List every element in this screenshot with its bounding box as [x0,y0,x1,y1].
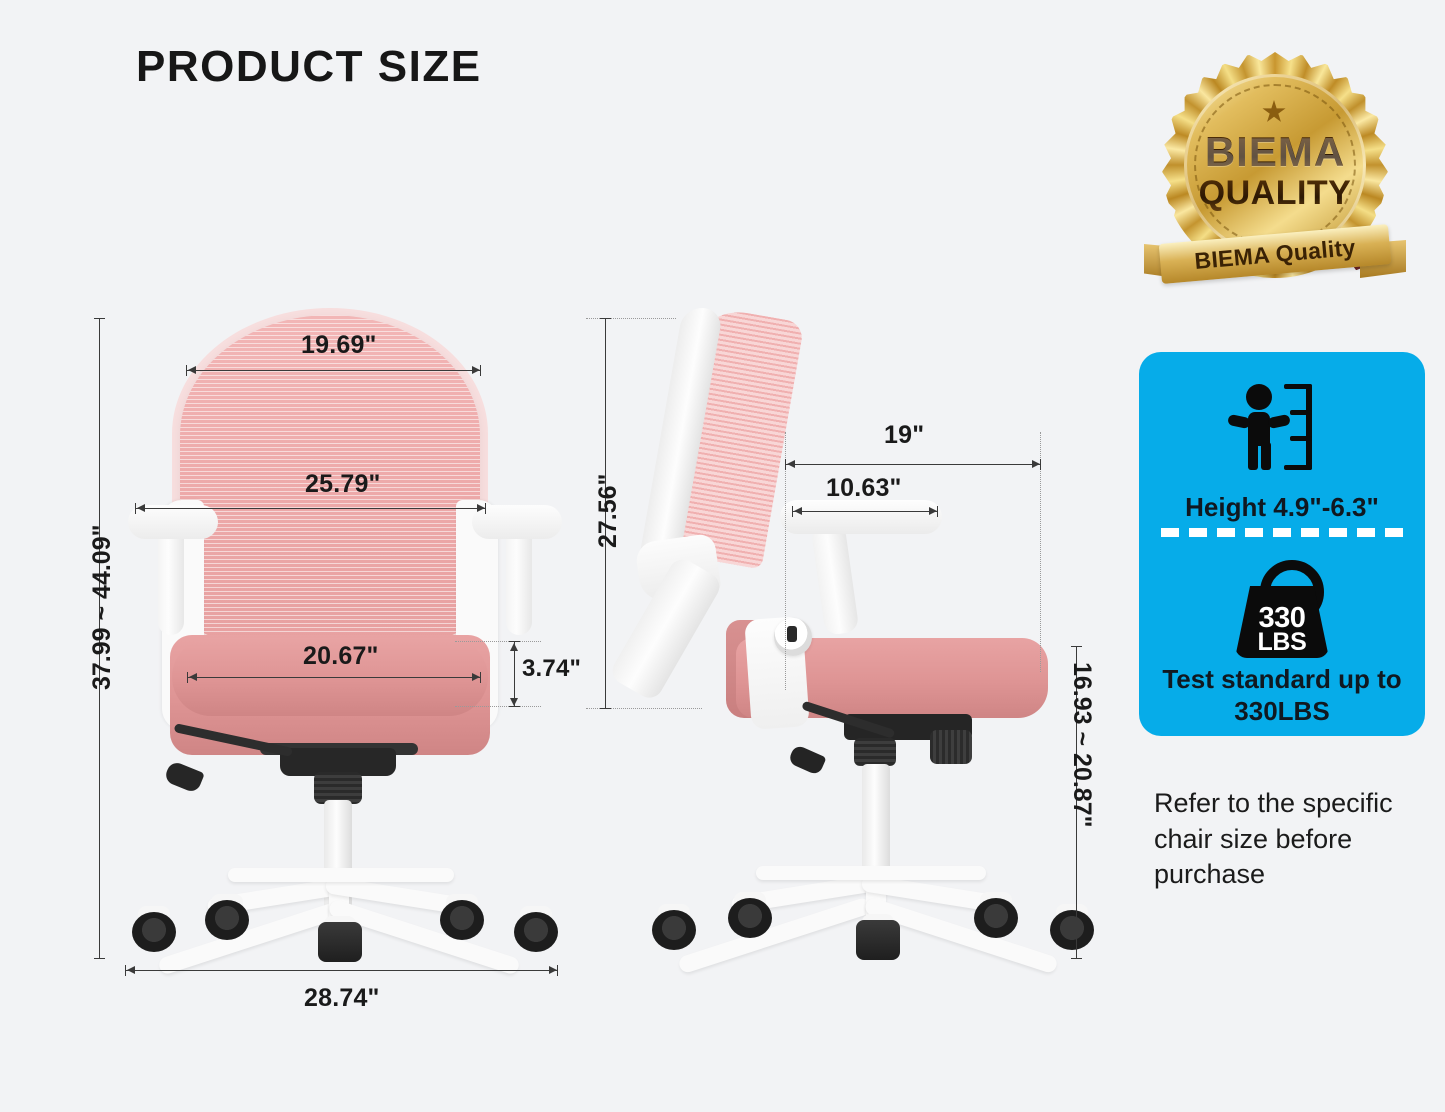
person-height-ruler-icon [1139,384,1425,475]
dim-seat-thickness: 3.74" [522,655,581,683]
dim-seat-width: 20.67" [303,642,379,671]
dim-seat-depth-total: 19" [884,421,924,450]
tilt-knob-detail [787,626,797,642]
weight-label: Test standard up to 330LBS [1139,664,1425,727]
armrest-post [158,529,184,635]
base-leg-far-left [677,896,872,974]
purchase-note: Refer to the specific chair size before … [1154,786,1424,893]
caster-4 [974,892,1018,938]
dimline-seat-width [187,677,480,678]
armrest-left [128,505,218,635]
dim-base-width: 28.74" [304,984,380,1013]
dimline-backrest-width [186,370,480,371]
height-label: Height 4.9"-6.3" [1139,492,1425,524]
caster-3 [318,916,362,962]
badge-ribbon: BIEMA Quality [1148,224,1402,286]
dim-seat-depth-inner: 10.63" [826,474,902,503]
height-lever-knob [163,760,205,794]
caster-5 [1050,904,1094,950]
caster-2 [728,892,772,938]
base-hub [756,866,986,880]
dim-total-height: 37.99 ~ 44.09" [88,525,117,690]
dimline-overall-width [135,508,485,509]
armrest-post [506,529,532,635]
caster-1 [652,904,696,950]
dim-backrest-width: 19.69" [301,331,377,360]
dim-backrest-height: 27.56" [594,474,623,548]
caster-1 [132,906,176,952]
panel-divider [1161,528,1403,537]
dim-seat-height: 16.93 ~ 20.87" [1067,662,1096,827]
infographic-canvas: PRODUCT SIZE [0,0,1445,1112]
caster-3 [856,914,900,960]
info-panel: Height 4.9"-6.3" 330 LBS Test standard u… [1139,352,1425,736]
back-support-strut [608,555,725,703]
dim-overall-width: 25.79" [305,470,381,499]
gas-cylinder-collar-side [854,738,896,766]
tension-knob [930,730,972,764]
armrest-stem-side [811,522,860,636]
side-view-chair [630,300,1070,960]
height-lever-knob-side [787,744,826,776]
caster-5 [514,906,558,952]
weight-icon: 330 LBS [1139,560,1425,663]
dimline-seat-depth-inner [792,511,937,512]
badge-brand: BIEMA [1150,128,1400,176]
dimline-seat-depth-total [785,464,1040,465]
weight-unit: LBS [1227,628,1337,657]
caster-4 [440,894,484,940]
caster-2 [205,894,249,940]
base-hub [228,868,454,882]
armrest-pad-side [780,500,942,534]
page-title: PRODUCT SIZE [136,42,482,92]
dimline-base-width [125,970,557,971]
armrest-right [472,505,562,635]
badge-word-quality: QUALITY [1150,174,1400,213]
badge-ribbon-text: BIEMA Quality [1159,224,1392,284]
quality-badge: BIEMA QUALITY BIEMA Quality [1150,48,1400,298]
front-view-chair [110,300,580,960]
